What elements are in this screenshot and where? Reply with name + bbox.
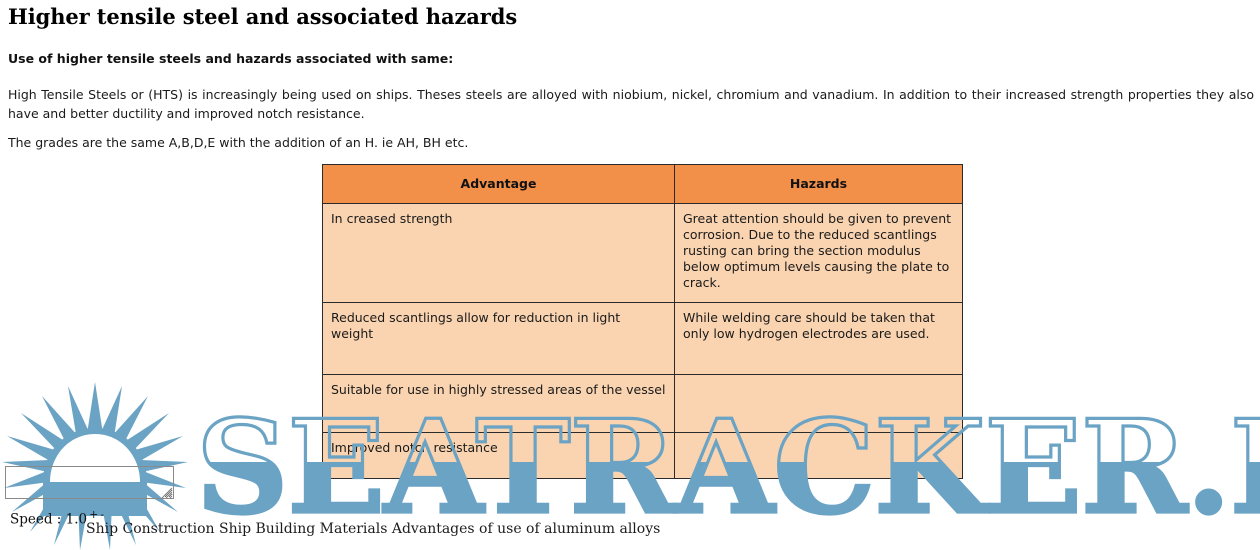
table-header-row: Advantage Hazards <box>323 165 963 204</box>
column-header-hazards: Hazards <box>675 165 963 204</box>
section-subheading: Use of higher tensile steels and hazards… <box>8 51 453 66</box>
cell-advantage: Suitable for use in highly stressed area… <box>323 375 675 433</box>
table-row: Suitable for use in highly stressed area… <box>323 375 963 433</box>
table-row: Improved notch resistance <box>323 433 963 479</box>
cell-hazard <box>675 433 963 479</box>
cell-advantage: In creased strength <box>323 204 675 303</box>
comment-textarea[interactable] <box>5 466 174 499</box>
document-content: Higher tensile steel and associated haza… <box>0 0 1260 550</box>
speed-increase-button[interactable]: + <box>89 508 98 521</box>
table-row: Reduced scantlings allow for reduction i… <box>323 303 963 375</box>
advantages-hazards-table: Advantage Hazards In creased strength Gr… <box>322 164 963 479</box>
paragraph-intro: High Tensile Steels or (HTS) is increasi… <box>8 85 1254 123</box>
cell-hazard <box>675 375 963 433</box>
cell-hazard: While welding care should be taken that … <box>675 303 963 375</box>
table-row: In creased strength Great attention shou… <box>323 204 963 303</box>
page-title: Higher tensile steel and associated haza… <box>8 4 517 29</box>
speed-value-label: Speed : 1.0 <box>10 512 87 528</box>
breadcrumb[interactable]: Ship Construction Ship Building Material… <box>86 521 660 537</box>
paragraph-grades: The grades are the same A,B,D,E with the… <box>8 133 1254 152</box>
speed-decrease-button[interactable]: - <box>100 508 104 521</box>
cell-advantage: Reduced scantlings allow for reduction i… <box>323 303 675 375</box>
cell-hazard: Great attention should be given to preve… <box>675 204 963 303</box>
column-header-advantage: Advantage <box>323 165 675 204</box>
cell-advantage: Improved notch resistance <box>323 433 675 479</box>
